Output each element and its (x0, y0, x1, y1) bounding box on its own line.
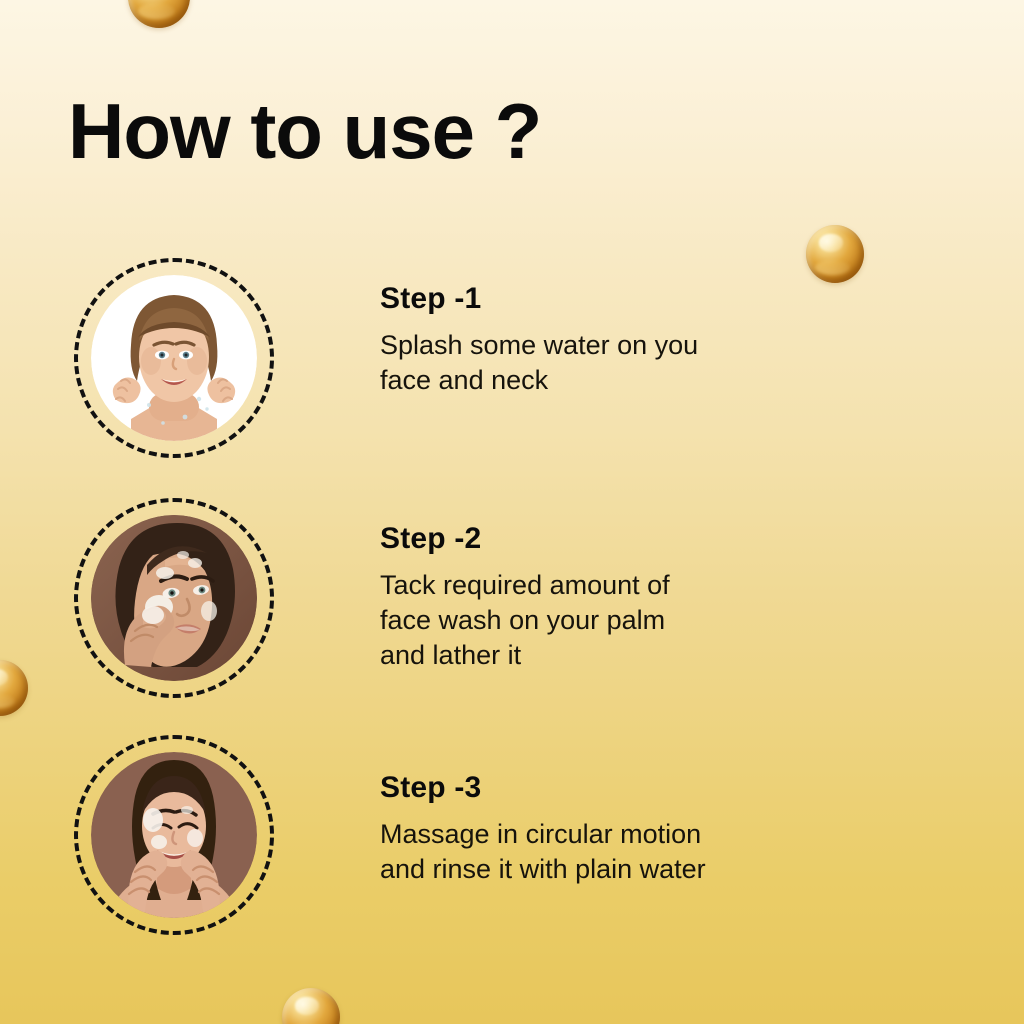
step-3-description: Massage in circular motion and rinse it … (380, 817, 706, 887)
step-1-avatar-ring (74, 258, 274, 458)
step-2-description: Tack required amount of face wash on you… (380, 568, 670, 673)
step-1-label: Step -1 (380, 282, 698, 316)
step-3-text: Step -3 Massage in circular motion and r… (380, 735, 706, 887)
oil-droplet-icon-left (0, 660, 28, 716)
how-to-use-poster: How to use ? (0, 0, 1024, 1024)
step-3-label: Step -3 (380, 771, 706, 805)
step-3-avatar-ring (74, 735, 274, 935)
step-2-label: Step -2 (380, 522, 670, 556)
step-1-text: Step -1 Splash some water on you face an… (380, 258, 698, 398)
step-2-avatar-ring (74, 498, 274, 698)
step-item-2: Step -2 Tack required amount of face was… (60, 498, 964, 698)
page-title: How to use ? (68, 92, 541, 170)
step-item-1: Step -1 Splash some water on you face an… (60, 258, 964, 458)
step-1-photo (91, 275, 257, 441)
oil-droplet-icon-top (128, 0, 190, 28)
step-item-3: Step -3 Massage in circular motion and r… (60, 735, 964, 935)
step-3-photo (91, 752, 257, 918)
step-2-text: Step -2 Tack required amount of face was… (380, 498, 670, 673)
oil-droplet-icon-bottom (282, 988, 340, 1024)
step-2-photo (91, 515, 257, 681)
step-1-description: Splash some water on you face and neck (380, 328, 698, 398)
